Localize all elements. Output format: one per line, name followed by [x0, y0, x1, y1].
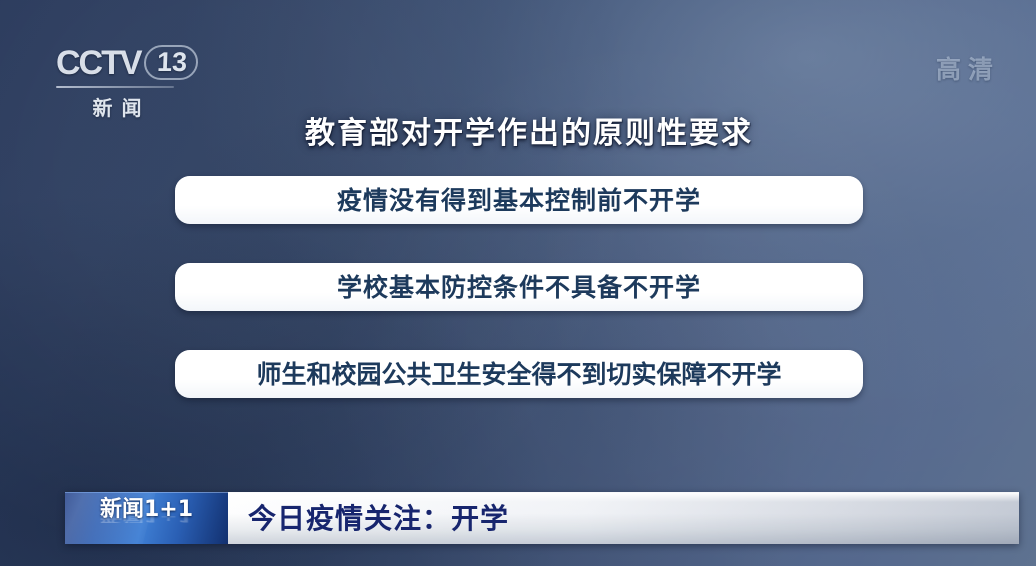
cctv-wordmark: CCTV [56, 46, 141, 80]
channel-logo-underline [56, 86, 174, 88]
channel-logo: CCTV 13 新闻 [56, 42, 208, 114]
rule-text: 师生和校园公共卫生安全得不到切实保障不开学 [256, 362, 781, 387]
list-item: 师生和校园公共卫生安全得不到切实保障不开学 [175, 350, 863, 398]
page-title: 教育部对开学作出的原则性要求 [0, 108, 1036, 152]
channel-number-badge: 13 [143, 45, 198, 80]
rule-text: 疫情没有得到基本控制前不开学 [337, 188, 701, 213]
program-logo-badge: 新闻1+1 新闻1+1 [65, 492, 228, 544]
list-item: 疫情没有得到基本控制前不开学 [175, 176, 863, 224]
lower-third-title-bar: 今日疫情关注：开学 [228, 492, 1019, 544]
list-item: 学校基本防控条件不具备不开学 [175, 263, 863, 311]
lower-third-title: 今日疫情关注：开学 [228, 505, 509, 533]
lower-third-banner: 新闻1+1 新闻1+1 今日疫情关注：开学 [65, 492, 1019, 544]
channel-logo-row: CCTV 13 [56, 42, 208, 84]
hd-quality-badge: 高清 [936, 50, 1000, 86]
rule-text: 学校基本防控条件不具备不开学 [337, 275, 701, 300]
broadcast-frame: CCTV 13 新闻 高清 教育部对开学作出的原则性要求 疫情没有得到基本控制前… [0, 0, 1036, 566]
program-logo-reflection: 新闻1+1 [65, 509, 228, 523]
rules-list: 疫情没有得到基本控制前不开学 学校基本防控条件不具备不开学 师生和校园公共卫生安… [175, 176, 863, 437]
